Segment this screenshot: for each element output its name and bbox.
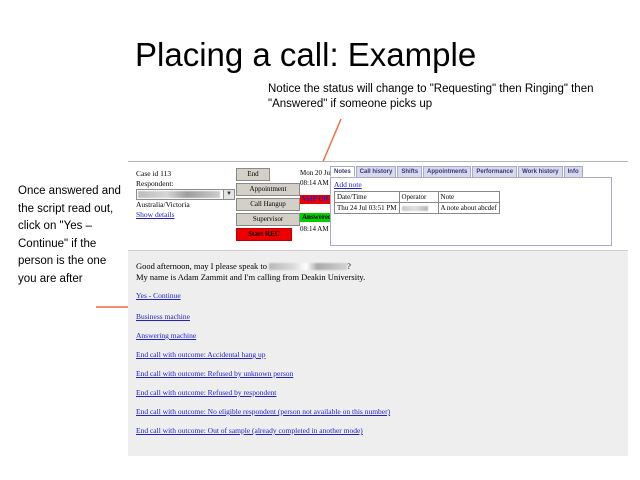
action-answering-machine[interactable]: Answering machine [136,331,196,340]
cell-datetime: Thu 24 Jul 03:51 PM [335,203,400,214]
column-header-datetime: Date/Time [335,192,400,203]
column-header-note: Note [438,192,499,203]
table-row: Thu 24 Jul 03:51 PM A note about abcdef [335,203,500,214]
script-line-2: My name is Adam Zammit and I'm calling f… [136,272,628,283]
tab-work-history[interactable]: Work history [518,166,563,177]
cell-note: A note about abcdef [438,203,499,214]
supervisor-button[interactable]: Supervisor [236,213,300,226]
tab-appointments[interactable]: Appointments [423,166,471,177]
action-business-machine[interactable]: Business machine [136,312,190,321]
script-line-1: Good afternoon, may I please speak to ? [136,261,628,272]
action-refused-by-unknown-person[interactable]: End call with outcome: Refused by unknow… [136,369,293,378]
redacted-respondent-value [138,191,220,198]
redacted-operator-value [402,206,428,211]
tab-performance[interactable]: Performance [472,166,517,177]
page-title: Placing a call: Example [135,36,615,74]
notes-tab-panel: Add note Date/Time Operator Note Thu 24 … [330,177,612,246]
case-id-label: Case id 113 [136,169,241,179]
script-question-mark: ? [347,261,351,271]
script-action-list: Yes - Continue Business machine Answerin… [136,291,628,436]
action-yes-continue[interactable]: Yes - Continue [136,291,181,300]
voip-status-badge: VoIP Off [300,195,330,204]
cell-operator [399,203,438,214]
add-note-link[interactable]: Add note [334,180,608,189]
tab-call-history[interactable]: Call history [356,166,397,177]
action-refused-by-respondent[interactable]: End call with outcome: Refused by respon… [136,388,276,397]
script-greeting: Good afternoon, may I please speak to [136,261,267,271]
app-screenshot: Case id 113 Respondent: ▼ Australia/Vict… [128,161,628,456]
respondent-label: Respondent: [136,179,241,189]
respondent-select[interactable]: ▼ [136,189,235,200]
info-panel: Notes Call history Shifts Appointments P… [330,166,612,248]
call-controls: End Appointment Call Hangup Supervisor S… [236,168,298,243]
redacted-respondent-name [269,263,347,270]
action-accidental-hang-up[interactable]: End call with outcome: Accidental hang u… [136,350,266,359]
appointment-button[interactable]: Appointment [236,183,300,196]
table-header-row: Date/Time Operator Note [335,192,500,203]
end-button[interactable]: End [236,168,270,181]
timezone-label: Australia/Victoria [136,200,241,210]
tab-notes[interactable]: Notes [330,166,355,177]
call-hangup-button[interactable]: Call Hangup [236,198,300,211]
tab-shifts[interactable]: Shifts [397,166,422,177]
action-out-of-sample[interactable]: End call with outcome: Out of sample (al… [136,426,363,435]
show-details-link[interactable]: Show details [136,210,241,220]
app-header-region: Case id 113 Respondent: ▼ Australia/Vict… [128,162,628,251]
tab-info[interactable]: Info [564,166,583,177]
callout-status-note: Notice the status will change to "Reques… [268,82,608,112]
call-status-badge: Answered [300,213,334,222]
script-region: Good afternoon, may I please speak to ? … [128,251,628,436]
panel-tabs: Notes Call history Shifts Appointments P… [330,166,612,177]
column-header-operator: Operator [399,192,438,203]
start-rec-button[interactable]: Start REC [236,228,292,241]
notes-table: Date/Time Operator Note Thu 24 Jul 03:51… [334,191,500,214]
chevron-down-icon[interactable]: ▼ [223,190,234,199]
slide-canvas: Placing a call: Example Notice the statu… [0,0,640,480]
action-no-eligible-respondent[interactable]: End call with outcome: No eligible respo… [136,407,390,416]
callout-yes-continue-note: Once answered and the script read out, c… [18,183,126,288]
case-info-block: Case id 113 Respondent: ▼ Australia/Vict… [136,169,241,219]
